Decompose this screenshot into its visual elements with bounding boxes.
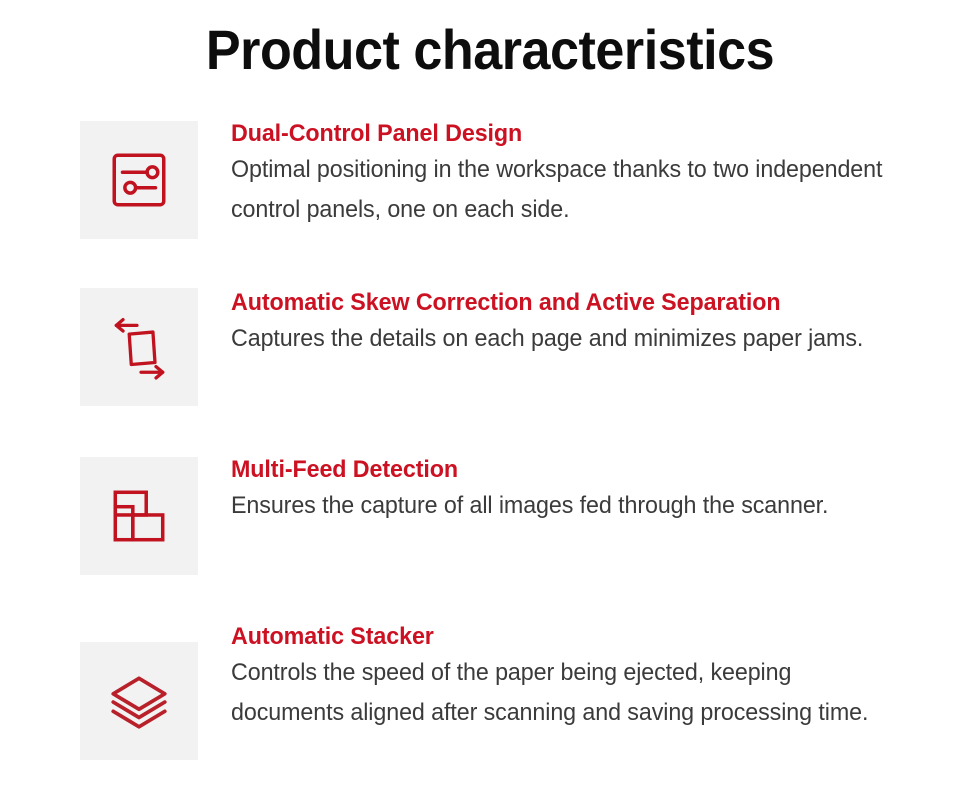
- product-characteristics-slide: Product characteristics Dual-Control Pan…: [0, 0, 980, 789]
- feature-title: Automatic Skew Correction and Active Sep…: [231, 286, 887, 319]
- feature-item: Dual-Control Panel Design Optimal positi…: [0, 115, 980, 239]
- feature-item: Automatic Stacker Controls the speed of …: [0, 618, 980, 760]
- feature-description: Controls the speed of the paper being ej…: [231, 653, 887, 733]
- feature-text-block: Automatic Stacker Controls the speed of …: [231, 618, 921, 733]
- feature-icon-tile: [80, 457, 198, 575]
- sliders-panel-icon: [106, 147, 172, 213]
- feature-icon-tile: [80, 642, 198, 760]
- feature-icon-tile: [80, 121, 198, 239]
- overlapping-sheets-icon: [106, 483, 172, 549]
- feature-title: Dual-Control Panel Design: [231, 117, 887, 150]
- page-title: Product characteristics: [34, 14, 945, 86]
- feature-description: Ensures the capture of all images fed th…: [231, 486, 887, 526]
- feature-text-block: Automatic Skew Correction and Active Sep…: [231, 284, 921, 359]
- stacked-layers-icon: [106, 668, 172, 734]
- feature-text-block: Dual-Control Panel Design Optimal positi…: [231, 115, 921, 230]
- feature-description: Optimal positioning in the workspace tha…: [231, 150, 887, 230]
- feature-item: Automatic Skew Correction and Active Sep…: [0, 284, 980, 406]
- feature-icon-tile: [80, 288, 198, 406]
- feature-text-block: Multi-Feed Detection Ensures the capture…: [231, 451, 921, 526]
- feature-item: Multi-Feed Detection Ensures the capture…: [0, 451, 980, 575]
- feature-list: Dual-Control Panel Design Optimal positi…: [0, 104, 980, 766]
- feature-description: Captures the details on each page and mi…: [231, 319, 887, 359]
- skew-page-arrows-icon: [106, 314, 172, 380]
- feature-title: Multi-Feed Detection: [231, 453, 887, 486]
- feature-title: Automatic Stacker: [231, 620, 887, 653]
